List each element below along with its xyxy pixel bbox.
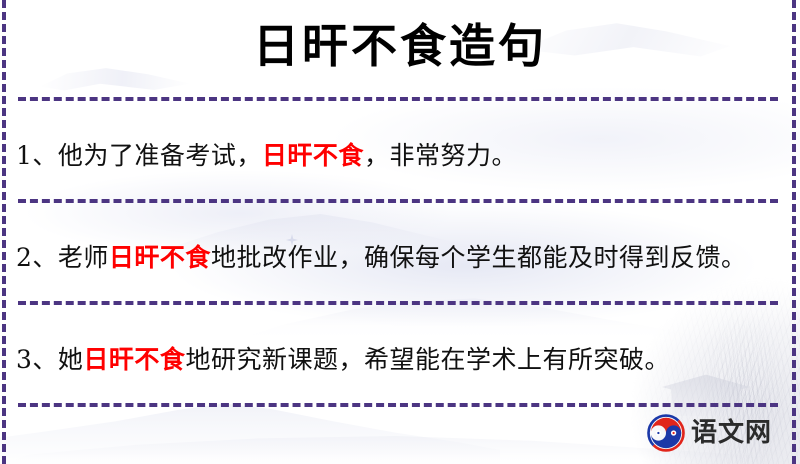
sentence-2-after: 地批改作业，确保每个学生都能及时得到反馈。 — [211, 243, 747, 272]
sentence-2-idiom: 日旰不食 — [109, 243, 211, 272]
divider-2 — [18, 199, 778, 203]
sentence-2-before: 老师 — [58, 243, 109, 272]
site-logo: 语文网 — [647, 414, 772, 452]
frame-border-left — [2, 0, 6, 464]
content-area: 日旰不食造句 1、他为了准备考试，日旰不食，非常努力。 2、老师日旰不食地批改作… — [0, 0, 800, 464]
sentence-2-index: 2、 — [16, 243, 58, 272]
divider-3 — [18, 301, 778, 305]
example-sentence-1: 1、他为了准备考试，日旰不食，非常努力。 — [0, 126, 800, 174]
sentence-1-after: ，非常努力。 — [364, 141, 517, 170]
divider-4 — [18, 403, 778, 407]
sentence-1-idiom: 日旰不食 — [262, 141, 364, 170]
sentence-1-before: 他为了准备考试， — [58, 141, 262, 170]
sentence-3-after: 地研究新课题，希望能在学术上有所突破。 — [185, 345, 670, 374]
site-logo-text: 语文网 — [691, 420, 772, 446]
example-sentence-3: 3、她日旰不食地研究新课题，希望能在学术上有所突破。 — [0, 330, 800, 378]
divider-1 — [18, 97, 778, 101]
page-root: 日旰不食造句 1、他为了准备考试，日旰不食，非常努力。 2、老师日旰不食地批改作… — [0, 0, 800, 464]
sentence-3-before: 她 — [58, 345, 84, 374]
frame-border-right — [792, 0, 796, 464]
sentence-3-index: 3、 — [16, 345, 58, 374]
page-title: 日旰不食造句 — [0, 0, 800, 72]
sentence-3-idiom: 日旰不食 — [83, 345, 185, 374]
example-sentence-2: 2、老师日旰不食地批改作业，确保每个学生都能及时得到反馈。 — [0, 228, 800, 276]
sentence-1-index: 1、 — [16, 141, 58, 170]
yinyang-fish-icon — [647, 414, 685, 452]
